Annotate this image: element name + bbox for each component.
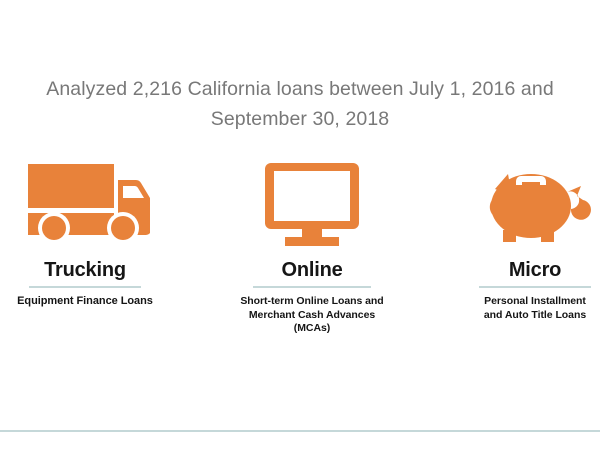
description-line: (MCAs) [294, 322, 330, 334]
description-line: and Auto Title Loans [484, 309, 586, 321]
category-column-trucking: Trucking Equipment Finance Loans [0, 152, 175, 309]
piggy-bank-icon [445, 152, 600, 248]
category-column-online: Online Short-term Online Loans and Merch… [222, 152, 402, 336]
description-line: Merchant Cash Advances [249, 309, 375, 321]
desktop-monitor-icon [222, 152, 402, 248]
heading-underline [479, 286, 591, 288]
description-line: Equipment Finance Loans [17, 295, 153, 307]
heading-underline [253, 286, 371, 288]
slide-title-line-2: September 30, 2018 [211, 108, 390, 130]
category-heading-trucking: Trucking [0, 258, 175, 282]
description-line: Personal Installment [484, 295, 586, 307]
category-heading-micro: Micro [445, 258, 600, 282]
slide-title-line-1: Analyzed 2,216 California loans between … [46, 78, 554, 100]
slide-canvas: Analyzed 2,216 California loans between … [0, 0, 600, 450]
category-column-micro: Micro Personal Installment and Auto Titl… [445, 152, 600, 322]
heading-underline [29, 286, 141, 288]
category-description-online: Short-term Online Loans and Merchant Cas… [222, 295, 402, 336]
category-description-trucking: Equipment Finance Loans [0, 295, 175, 309]
truck-icon [0, 152, 175, 248]
footer-divider [0, 430, 600, 432]
category-description-micro: Personal Installment and Auto Title Loan… [445, 295, 600, 322]
description-line: Short-term Online Loans and [240, 295, 383, 307]
slide-title: Analyzed 2,216 California loans between … [22, 74, 578, 134]
category-heading-online: Online [222, 258, 402, 282]
